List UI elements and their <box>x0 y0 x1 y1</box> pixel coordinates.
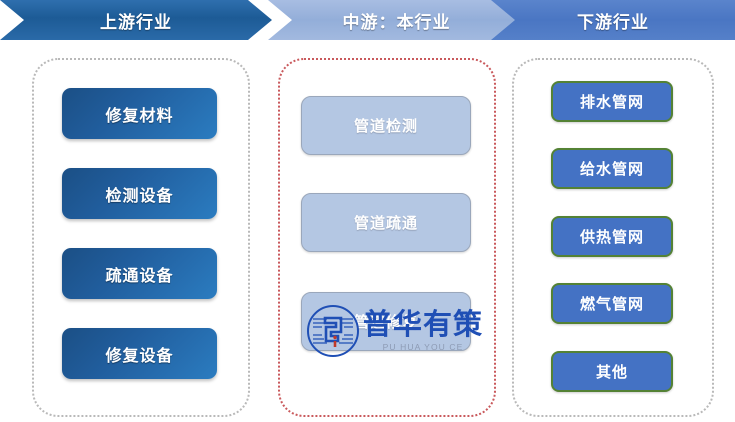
stage-downstream[interactable]: 下游行业 <box>491 0 735 40</box>
upstream-item-label: 修复设备 <box>105 342 173 366</box>
midstream-item-0[interactable]: 管道检测 <box>301 96 471 155</box>
stage-midstream-label: 中游：本行业 <box>343 8 451 33</box>
midstream-item-label: 管道修复 <box>354 311 418 332</box>
midstream-item-label: 管道疏通 <box>354 212 418 233</box>
downstream-item-1[interactable]: 给水管网 <box>551 148 673 189</box>
upstream-item-label: 检测设备 <box>105 182 173 206</box>
downstream-item-label: 供热管网 <box>580 226 644 247</box>
stage-downstream-label: 下游行业 <box>577 8 649 33</box>
stage-upstream-label: 上游行业 <box>100 8 172 33</box>
upstream-item-0[interactable]: 修复材料 <box>62 88 217 139</box>
stage-midstream[interactable]: 中游：本行业 <box>268 0 525 40</box>
upstream-item-3[interactable]: 修复设备 <box>62 328 217 379</box>
downstream-item-label: 其他 <box>596 361 628 382</box>
industry-chain-diagram: 上游行业 中游：本行业 下游行业 修复材料 检测设备 疏通设备 修复设备 管道检… <box>0 0 735 422</box>
midstream-item-1[interactable]: 管道疏通 <box>301 193 471 252</box>
upstream-item-label: 疏通设备 <box>105 262 173 286</box>
midstream-item-label: 管道检测 <box>354 115 418 136</box>
stage-header-band: 上游行业 中游：本行业 下游行业 <box>0 0 735 44</box>
downstream-item-4[interactable]: 其他 <box>551 351 673 392</box>
midstream-item-2[interactable]: 管道修复 <box>301 292 471 351</box>
upstream-item-label: 修复材料 <box>105 102 173 126</box>
stage-upstream[interactable]: 上游行业 <box>0 0 272 40</box>
downstream-item-label: 燃气管网 <box>580 293 644 314</box>
upstream-item-2[interactable]: 疏通设备 <box>62 248 217 299</box>
downstream-item-0[interactable]: 排水管网 <box>551 81 673 122</box>
upstream-item-1[interactable]: 检测设备 <box>62 168 217 219</box>
downstream-item-label: 给水管网 <box>580 158 644 179</box>
downstream-item-3[interactable]: 燃气管网 <box>551 283 673 324</box>
downstream-item-2[interactable]: 供热管网 <box>551 216 673 257</box>
downstream-item-label: 排水管网 <box>580 91 644 112</box>
